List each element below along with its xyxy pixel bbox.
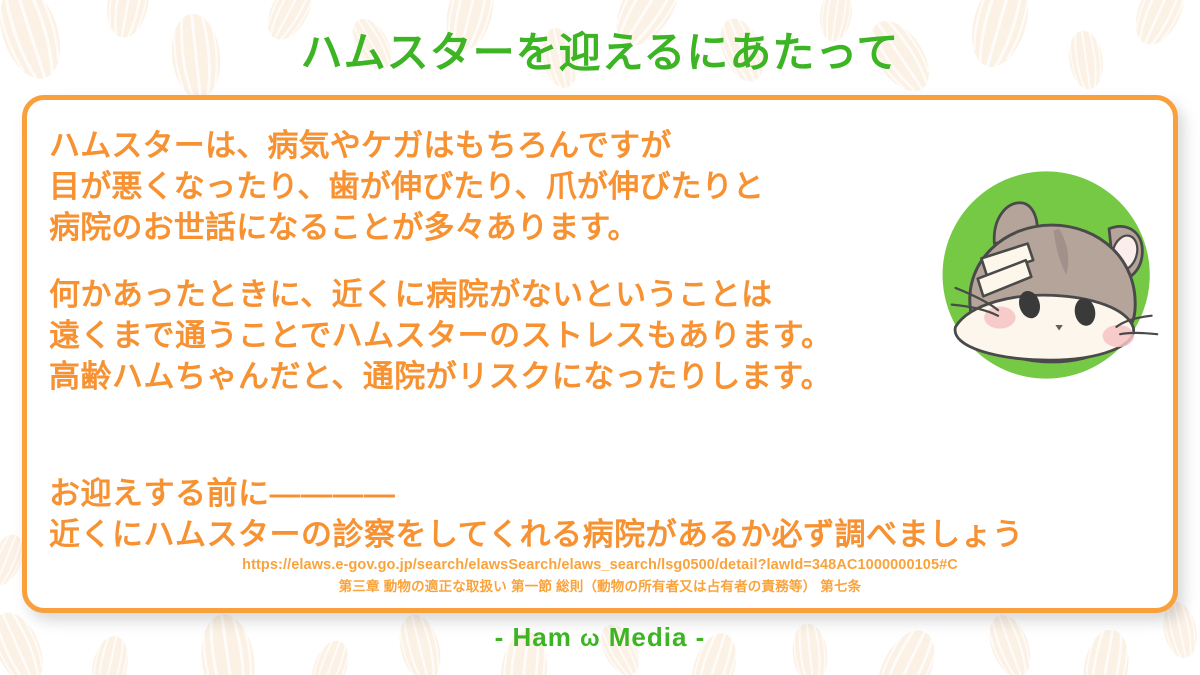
brand-footer: - Ham ω Media - xyxy=(0,622,1200,653)
brand-suffix: Media - xyxy=(601,622,706,652)
paragraph-1: ハムスターは、病気やケガはもちろんですが 目が悪くなったり、歯が伸びたり、爪が伸… xyxy=(49,126,929,249)
main-content-card: ハムスターは、病気やケガはもちろんですが 目が悪くなったり、歯が伸びたり、爪が伸… xyxy=(22,95,1178,613)
paragraph-2: 何かあったときに、近くに病院がないということは 遠くまで通うことでハムスターのス… xyxy=(49,275,929,398)
hamster-left-cheek xyxy=(984,306,1015,328)
paragraph-2-line-1: 何かあったときに、近くに病院がないということは xyxy=(49,275,929,316)
body-copy: ハムスターは、病気やケガはもちろんですが 目が悪くなったり、歯が伸びたり、爪が伸… xyxy=(49,126,929,397)
paragraph-1-line-1: ハムスターは、病気やケガはもちろんですが xyxy=(49,126,929,167)
paragraph-1-line-2: 目が悪くなったり、歯が伸びたり、爪が伸びたりと xyxy=(49,167,929,208)
paragraph-2-line-3: 高齢ハムちゃんだと、通院がリスクになったりします。 xyxy=(49,357,929,398)
brand-prefix: - Ham xyxy=(495,622,580,652)
paragraph-3-line-1: お迎えする前に———— xyxy=(49,474,1159,515)
bandaged-hamster-illustration xyxy=(937,164,1159,386)
brand-omega-icon: ω xyxy=(580,625,600,651)
hamster-right-cheek xyxy=(1103,325,1134,347)
source-url[interactable]: https://elaws.e-gov.go.jp/search/elawsSe… xyxy=(27,555,1173,577)
paragraph-3: お迎えする前に———— 近くにハムスターの診察をしてくれる病院があるか必ず調べま… xyxy=(49,474,1159,556)
source-reference: 第三章 動物の適正な取扱い 第一節 総則（動物の所有者又は占有者の責務等） 第七… xyxy=(27,576,1173,598)
paragraph-3-line-2: 近くにハムスターの診察をしてくれる病院があるか必ず調べましょう xyxy=(49,515,1159,556)
paragraph-2-line-2: 遠くまで通うことでハムスターのストレスもあります。 xyxy=(49,316,929,357)
page-title: ハムスターを迎えるにあたって xyxy=(0,30,1200,76)
paragraph-1-line-3: 病院のお世話になることが多々あります。 xyxy=(49,208,929,249)
source-block: https://elaws.e-gov.go.jp/search/elawsSe… xyxy=(27,555,1173,598)
hamster-muzzle xyxy=(955,295,1134,360)
